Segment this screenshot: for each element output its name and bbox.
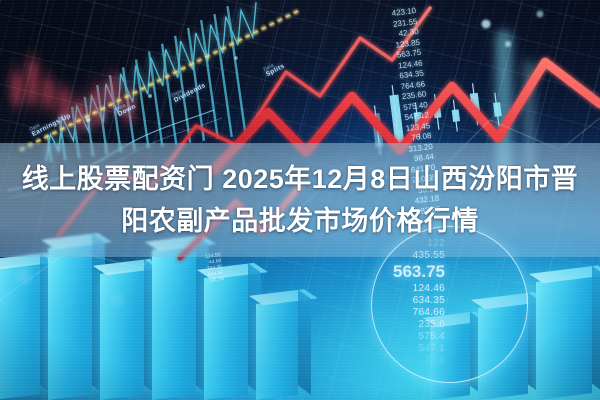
quote-value: 235.6: [418, 319, 445, 330]
quote-value: 124.46: [413, 283, 445, 294]
quote-ticker-column-magnified: 122435.55563.75124.46634.35764.66235.657…: [393, 238, 445, 366]
title-block: 线上股票配资门 2025年12月8日山西汾阳市晋 阳农副产品批发市场价格行情: [0, 143, 600, 257]
title-line-2: 阳农副产品批发市场价格行情: [121, 201, 479, 241]
quote-value: 634.35: [413, 295, 445, 306]
title-line-1: 线上股票配资门 2025年12月8日山西汾阳市晋: [22, 159, 579, 199]
quote-value: 12.8: [424, 355, 445, 366]
quote-value: 547.1: [418, 343, 445, 354]
quote-value: 764.66: [413, 307, 445, 318]
quote-value: 575.4: [418, 331, 445, 342]
stock-market-banner-image: Data Earnings Up Data Down Data Dividend…: [0, 0, 600, 400]
quote-value: 563.75: [393, 262, 445, 282]
